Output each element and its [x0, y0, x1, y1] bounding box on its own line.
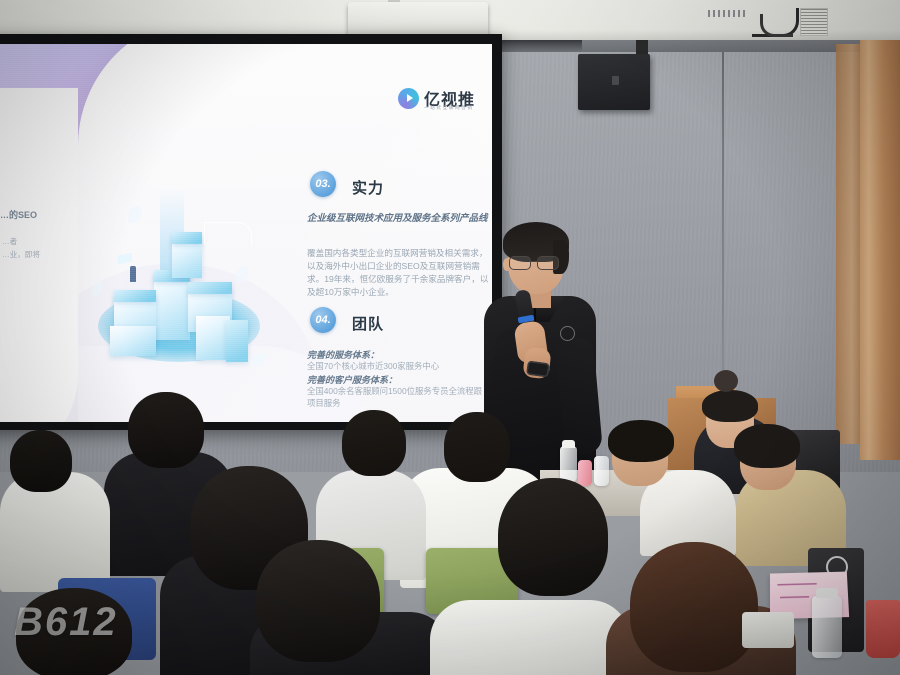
logo-tagline: 一站式互联网营销: [424, 105, 474, 111]
slide-left-fragment-title: …的SEO: [0, 208, 37, 221]
audience-hair-bun: [714, 370, 738, 392]
section-03-title: 实力: [352, 177, 384, 198]
section-03-heading: 企业级互联网技术应用及服务全系列产品线: [307, 212, 489, 226]
projector-vent: [708, 10, 748, 17]
section-03-body: 覆盖国内各类型企业的互联网营销及相关需求，以及海外中小出口企业的SEO及互联网营…: [307, 247, 491, 299]
glasses-icon: [509, 256, 563, 269]
red-cup: [866, 600, 900, 658]
audience-hair-3: [608, 420, 674, 462]
presenter-shirt-logo: [560, 326, 575, 341]
wristwatch: [526, 361, 550, 378]
play-circle-icon: [398, 88, 419, 109]
wood-column: [860, 40, 900, 460]
audience-head-4: [444, 412, 510, 482]
bottle: [560, 446, 577, 482]
bottle-cap: [562, 440, 575, 448]
bottle-2: [594, 456, 609, 486]
audience-head-front-4: [630, 542, 758, 672]
water-bottle-cap: [816, 588, 838, 598]
white-bowl: [742, 612, 794, 648]
audience-hair: [702, 390, 758, 422]
photo-scene: 亿视推 一站式互联网营销 03. 实力 企业级互联网技术应用及服务全系列产品线 …: [0, 0, 900, 675]
section-04-badge: 04.: [310, 307, 336, 333]
audience-head-5: [342, 410, 406, 476]
wood-column-inner: [836, 44, 862, 444]
slide-left-fragment-body: …者 …业，即将: [2, 236, 40, 262]
section-04-sub1-body: 全国70个核心城市近300家服务中心: [307, 360, 439, 372]
speaker-badge: [612, 76, 619, 85]
wall-seam: [722, 52, 724, 412]
section-04-sub2-body: 全国400余名客服顾问1500位服务专员全流程跟项目服务: [307, 385, 485, 409]
audience-hair-2: [734, 424, 800, 468]
audience-head-7: [10, 430, 72, 492]
water-bottle-right: [812, 596, 842, 658]
projector-cable-2: [760, 14, 793, 37]
section-03-badge: 03.: [310, 171, 336, 197]
audience-head-6: [128, 392, 204, 468]
audience-head-front-3: [498, 478, 608, 596]
projector-label-sticker: [800, 8, 828, 36]
bottle-pink: [578, 460, 592, 486]
section-04-title: 团队: [352, 313, 384, 334]
audience-body-front-3: [430, 600, 630, 675]
audience-head-front-2: [256, 540, 380, 662]
watermark: B612: [14, 600, 118, 645]
